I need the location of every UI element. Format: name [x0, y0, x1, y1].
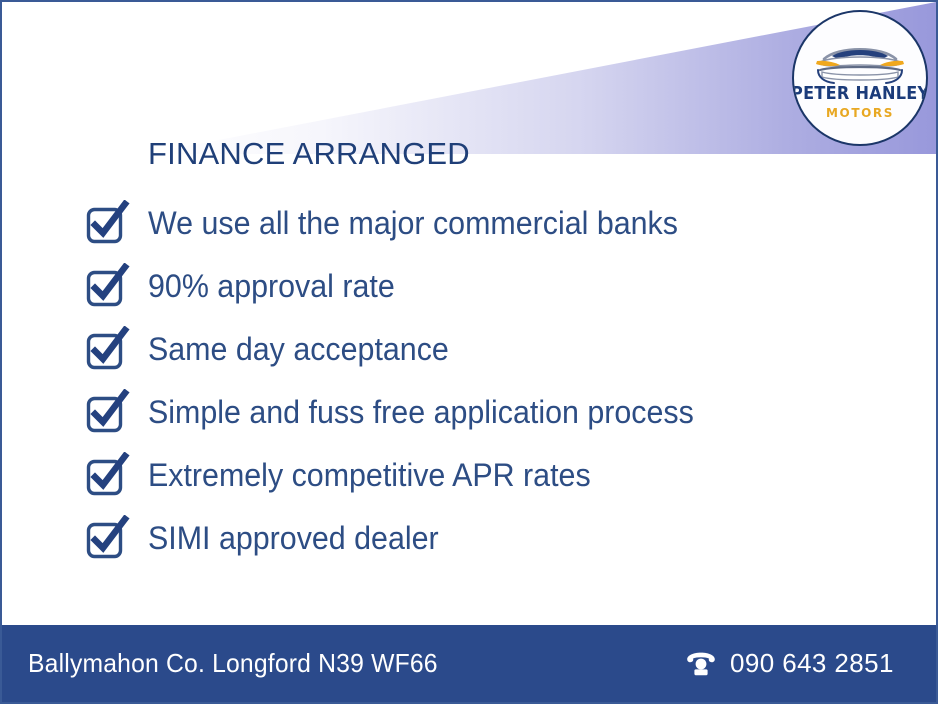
list-item-label: Extremely competitive APR rates: [148, 459, 591, 491]
list-item-label: Same day acceptance: [148, 333, 449, 365]
checkbox-checked-icon: [84, 200, 130, 246]
checkbox-checked-icon: [84, 263, 130, 309]
list-item-label: 90% approval rate: [148, 270, 395, 302]
checkbox-checked-icon: [84, 515, 130, 561]
list-item: Simple and fuss free application process: [84, 380, 884, 443]
footer-address: Ballymahon Co. Longford N39 WF66: [28, 648, 438, 679]
dealer-logo-badge: PETER HANLEY MOTORS: [792, 10, 928, 146]
list-item: SIMI approved dealer: [84, 506, 884, 569]
car-icon: [808, 39, 912, 85]
list-item: We use all the major commercial banks: [84, 191, 884, 254]
list-item: 90% approval rate: [84, 254, 884, 317]
list-item-label: SIMI approved dealer: [148, 522, 439, 554]
footer-phone-number: 090 643 2851: [730, 648, 894, 679]
list-item: Extremely competitive APR rates: [84, 443, 884, 506]
telephone-icon: [685, 651, 717, 677]
logo-name-text: PETER HANLEY: [792, 86, 928, 104]
checkbox-checked-icon: [84, 326, 130, 372]
footer-phone-group[interactable]: 090 643 2851: [685, 648, 894, 679]
checkbox-checked-icon: [84, 389, 130, 435]
page-title: FINANCE ARRANGED: [148, 136, 470, 172]
list-item: Same day acceptance: [84, 317, 884, 380]
logo-subtitle-text: MOTORS: [826, 107, 894, 119]
feature-list: We use all the major commercial banks 90…: [84, 191, 884, 569]
list-item-label: We use all the major commercial banks: [148, 207, 678, 239]
list-item-label: Simple and fuss free application process: [148, 396, 694, 428]
finance-advert-card: PETER HANLEY MOTORS FINANCE ARRANGED We …: [0, 0, 938, 704]
footer-bar: Ballymahon Co. Longford N39 WF66 090 643…: [2, 625, 936, 702]
checkbox-checked-icon: [84, 452, 130, 498]
